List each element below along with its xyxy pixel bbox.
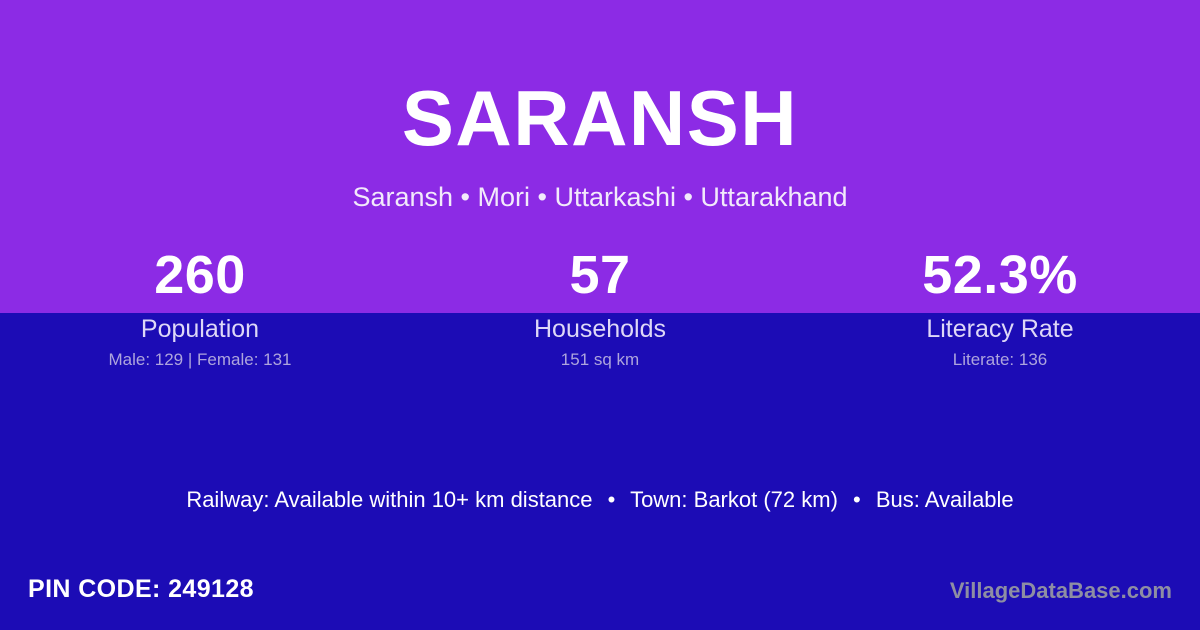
infra-town: Town: Barkot (72 km) <box>630 487 838 512</box>
stat-population: 260 Population Male: 129 | Female: 131 <box>0 244 400 370</box>
header: SARANSH Saransh • Mori • Uttarkashi • Ut… <box>0 0 1200 211</box>
stat-value: 57 <box>400 244 800 306</box>
stat-label: Households <box>400 315 800 343</box>
stats-row: 260 Population Male: 129 | Female: 131 5… <box>0 244 1200 370</box>
breadcrumb: Saransh • Mori • Uttarkashi • Uttarakhan… <box>0 157 1200 211</box>
footer: PIN CODE: 249128 VillageDataBase.com <box>0 560 1200 630</box>
infra-bus: Bus: Available <box>876 487 1014 512</box>
infra-railway: Railway: Available within 10+ km distanc… <box>186 487 592 512</box>
infrastructure-line: Railway: Available within 10+ km distanc… <box>0 486 1200 514</box>
stat-sub: Male: 129 | Female: 131 <box>0 350 400 370</box>
stat-sub: 151 sq km <box>400 350 800 370</box>
stat-sub: Literate: 136 <box>800 350 1200 370</box>
page-title: SARANSH <box>0 0 1200 157</box>
infra-separator-1: • <box>599 487 625 512</box>
infra-separator-2: • <box>844 487 870 512</box>
stat-literacy-rate: 52.3% Literacy Rate Literate: 136 <box>800 244 1200 370</box>
stat-label: Population <box>0 315 400 343</box>
stat-households: 57 Households 151 sq km <box>400 244 800 370</box>
site-watermark: VillageDataBase.com <box>950 578 1172 604</box>
stat-value: 52.3% <box>800 244 1200 306</box>
pin-code: PIN CODE: 249128 <box>28 574 254 604</box>
stat-label: Literacy Rate <box>800 315 1200 343</box>
village-info-card: SARANSH Saransh • Mori • Uttarkashi • Ut… <box>0 0 1200 630</box>
stat-value: 260 <box>0 244 400 306</box>
